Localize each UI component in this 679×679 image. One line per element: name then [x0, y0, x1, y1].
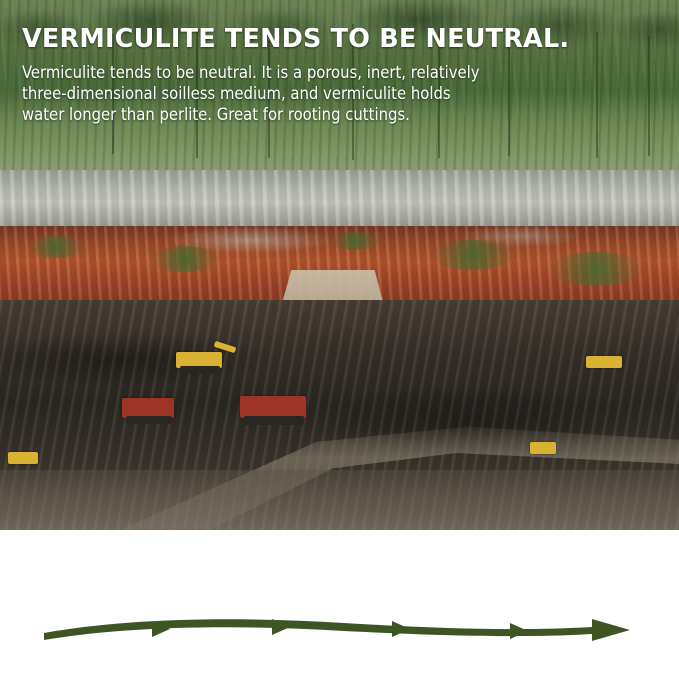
haul-truck-red	[122, 398, 174, 418]
benefit-flow: HIGH QUALITY ALL NATURAL GOOD MEDIUM FOR…	[0, 530, 679, 679]
loader-yellow	[8, 452, 38, 464]
pit-floor	[0, 470, 679, 530]
mine-photo: VERMICULITE TENDS TO BE NEUTRAL. Vermicu…	[0, 0, 679, 530]
excavator-track	[180, 366, 220, 374]
scrub-clump	[430, 240, 516, 270]
page-title: VERMICULITE TENDS TO BE NEUTRAL.	[22, 24, 661, 54]
scrub-clump	[150, 246, 220, 272]
dozer-yellow	[586, 356, 622, 368]
loader-yellow	[530, 442, 556, 454]
flow-arrow-graphic	[44, 615, 630, 643]
haul-truck-wheels	[126, 416, 172, 424]
headline-body: Vermiculite tends to be neutral. It is a…	[22, 62, 492, 125]
scrub-clump	[548, 252, 644, 286]
scrub-clump	[330, 232, 380, 250]
haul-truck-red	[240, 396, 306, 418]
headline-block: VERMICULITE TENDS TO BE NEUTRAL. Vermicu…	[0, 0, 679, 135]
product-infographic: VERMICULITE TENDS TO BE NEUTRAL. Vermicu…	[0, 0, 679, 679]
grey-bench-band	[0, 170, 679, 232]
benefits-strip: HIGH QUALITY ALL NATURAL GOOD MEDIUM FOR…	[0, 530, 679, 679]
haul-truck-wheels	[244, 416, 304, 425]
scrub-clump	[28, 236, 84, 258]
